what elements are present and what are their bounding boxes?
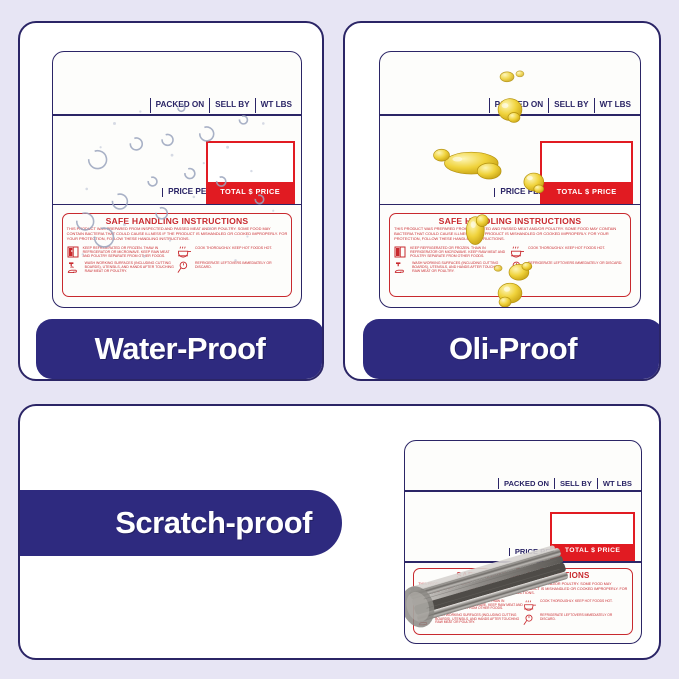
refrigerator-icon <box>67 246 80 259</box>
label-divider-mid <box>405 561 641 563</box>
faucet-handwash-icon <box>67 261 82 276</box>
header-cell-packed-on: PACKED ON <box>150 98 210 113</box>
header-cell-sell-by: SELL BY <box>209 98 254 113</box>
faucet-handwash-icon <box>394 261 409 276</box>
banner-scratch-proof: Scratch-proof <box>18 490 342 556</box>
safe-handling-item-text: KEEP REFRIGERATED OR FROZEN. THAW IN REF… <box>433 600 523 611</box>
header-cell-packed-on: PACKED ON <box>498 478 554 490</box>
thermometer-icon <box>523 614 537 628</box>
safe-handling-item-wash: WASH WORKING SURFACES (INCLUDING CUTTING… <box>67 259 177 276</box>
safe-handling-item-cook: COOK THOROUGHLY. KEEP HOT FOODS HOT. <box>523 598 628 612</box>
safe-handling-item-leftovers: REFRIGERATE LEFTOVERS IMMEDIATELY OR DIS… <box>510 259 626 276</box>
banner-label: Oli-Proof <box>449 331 577 367</box>
safe-handling-item-text: KEEP REFRIGERATED OR FROZEN. THAW IN REF… <box>83 246 177 258</box>
skillet-cook-icon <box>523 600 537 612</box>
meat-label-oil: PACKED ON SELL BY WT LBS PRICE PER LB TO… <box>379 51 641 308</box>
refrigerator-icon <box>418 600 430 612</box>
total-price-box: TOTAL $ PRICE <box>540 141 634 203</box>
feature-card-oil-proof: PACKED ON SELL BY WT LBS PRICE PER LB TO… <box>343 21 661 381</box>
header-cell-wt-lbs: WT LBS <box>255 98 301 113</box>
feature-card-water-proof: PACKED ON SELL BY WT LBS PRICE PER LB TO… <box>18 21 324 381</box>
banner-label: Scratch-proof <box>115 505 312 541</box>
safe-handling-title: SAFE HANDLING INSTRUCTIONS <box>390 217 630 226</box>
safe-handling-body: THIS PRODUCT WAS PREPARED FROM INSPECTED… <box>390 227 630 241</box>
safe-handling-title: SAFE HANDLING INSTRUCTIONS <box>63 217 292 226</box>
safe-handling-item-leftovers: REFRIGERATE LEFTOVERS IMMEDIATELY OR DIS… <box>177 259 287 276</box>
total-price-box: TOTAL $ PRICE <box>550 512 635 561</box>
faucet-handwash-icon <box>418 614 432 628</box>
header-cell-sell-by: SELL BY <box>554 478 597 490</box>
header-cell-packed-on: PACKED ON <box>489 98 549 113</box>
safe-handling-item-text: KEEP REFRIGERATED OR FROZEN. THAW IN REF… <box>410 246 510 258</box>
safe-handling-block: SAFE HANDLING INSTRUCTIONS THIS PRODUCT … <box>413 568 632 635</box>
safe-handling-body: THIS PRODUCT WAS PREPARED FROM INSPECTED… <box>63 227 292 241</box>
header-cell-wt-lbs: WT LBS <box>594 98 640 113</box>
safe-handling-item-text: WASH WORKING SURFACES (INCLUDING CUTTING… <box>85 261 177 273</box>
refrigerator-icon <box>394 246 407 259</box>
safe-handling-item-leftovers: REFRIGERATE LEFTOVERS IMMEDIATELY OR DIS… <box>523 612 628 628</box>
label-header-row: PACKED ON SELL BY WT LBS <box>405 476 641 490</box>
safe-handling-item-text: COOK THOROUGHLY. KEEP HOT FOODS HOT. <box>540 600 613 604</box>
label-divider-top <box>380 114 640 116</box>
total-price-label: TOTAL $ PRICE <box>542 182 632 202</box>
label-header-row: PACKED ON SELL BY WT LBS <box>380 97 640 115</box>
meat-label-water: PACKED ON SELL BY WT LBS PRICE PER LB TO… <box>52 51 302 308</box>
thermometer-icon <box>510 261 525 276</box>
total-price-box: TOTAL $ PRICE <box>206 141 295 203</box>
meat-label-scratch: PACKED ON SELL BY WT LBS PRICE PER LB TO… <box>404 440 642 644</box>
safe-handling-item-cook: COOK THOROUGHLY. KEEP HOT FOODS HOT. <box>510 244 626 259</box>
label-divider-mid <box>53 204 301 206</box>
safe-handling-item-text: WASH WORKING SURFACES (INCLUDING CUTTING… <box>435 614 523 625</box>
safe-handling-title: SAFE HANDLING INSTRUCTIONS <box>414 572 631 580</box>
safe-handling-item-text: REFRIGERATE LEFTOVERS IMMEDIATELY OR DIS… <box>540 614 628 622</box>
skillet-cook-icon <box>510 246 525 259</box>
safe-handling-item-refrigerate: KEEP REFRIGERATED OR FROZEN. THAW IN REF… <box>67 244 177 259</box>
safe-handling-item-wash: WASH WORKING SURFACES (INCLUDING CUTTING… <box>394 259 510 276</box>
header-cell-sell-by: SELL BY <box>548 98 593 113</box>
label-divider-top <box>405 490 641 492</box>
safe-handling-item-text: COOK THOROUGHLY. KEEP HOT FOODS HOT. <box>528 246 605 250</box>
safe-handling-block: SAFE HANDLING INSTRUCTIONS THIS PRODUCT … <box>62 213 293 297</box>
safe-handling-item-text: COOK THOROUGHLY. KEEP HOT FOODS HOT. <box>195 246 272 250</box>
label-divider-top <box>53 114 301 116</box>
banner-label: Water-Proof <box>95 331 266 367</box>
label-divider-mid <box>380 204 640 206</box>
product-feature-collage: PACKED ON SELL BY WT LBS PRICE PER LB TO… <box>0 0 679 679</box>
safe-handling-item-refrigerate: KEEP REFRIGERATED OR FROZEN. THAW IN REF… <box>418 598 523 612</box>
label-header-row: PACKED ON SELL BY WT LBS <box>53 97 301 115</box>
safe-handling-item-text: REFRIGERATE LEFTOVERS IMMEDIATELY OR DIS… <box>195 261 287 269</box>
safe-handling-item-text: WASH WORKING SURFACES (INCLUDING CUTTING… <box>412 261 510 273</box>
header-cell-wt-lbs: WT LBS <box>597 478 641 490</box>
safe-handling-item-wash: WASH WORKING SURFACES (INCLUDING CUTTING… <box>418 612 523 628</box>
skillet-cook-icon <box>177 246 192 259</box>
feature-card-scratch-proof: PACKED ON SELL BY WT LBS PRICE PER LB TO… <box>18 404 661 660</box>
safe-handling-block: SAFE HANDLING INSTRUCTIONS THIS PRODUCT … <box>389 213 631 297</box>
safe-handling-body: THIS PRODUCT WAS PREPARED FROM INSPECTED… <box>414 582 631 596</box>
safe-handling-item-text: REFRIGERATE LEFTOVERS IMMEDIATELY OR DIS… <box>528 261 622 265</box>
banner-oil-proof: Oli-Proof <box>363 319 661 379</box>
total-price-label: TOTAL $ PRICE <box>552 544 633 559</box>
banner-water-proof: Water-Proof <box>36 319 324 379</box>
safe-handling-item-cook: COOK THOROUGHLY. KEEP HOT FOODS HOT. <box>177 244 287 259</box>
total-price-label: TOTAL $ PRICE <box>208 182 293 202</box>
safe-handling-item-refrigerate: KEEP REFRIGERATED OR FROZEN. THAW IN REF… <box>394 244 510 259</box>
thermometer-icon <box>177 261 192 276</box>
